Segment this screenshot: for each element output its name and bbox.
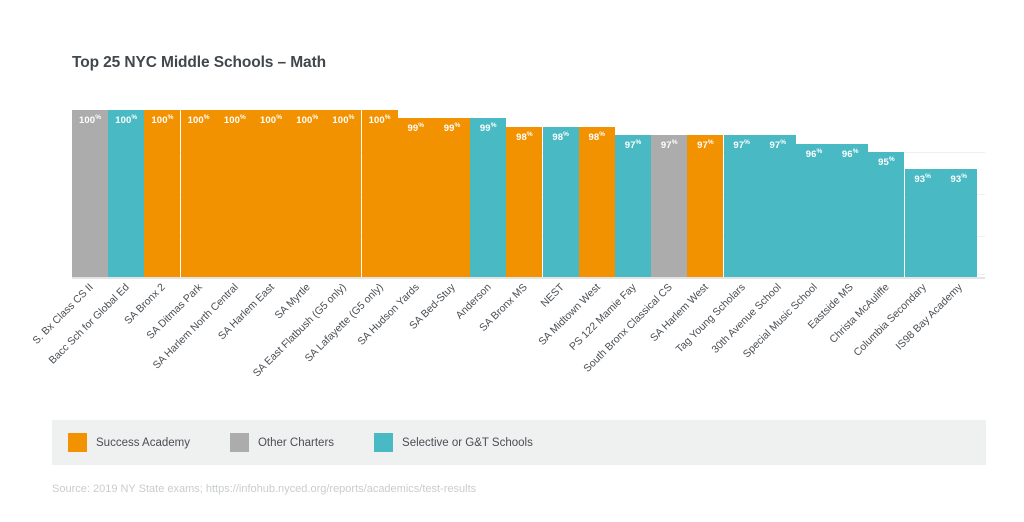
bar[interactable]: 97% bbox=[651, 135, 687, 278]
legend-swatch-success_academy bbox=[68, 433, 87, 452]
bar[interactable]: 100% bbox=[181, 110, 217, 278]
bar[interactable]: 100% bbox=[253, 110, 289, 278]
bar-value-label: 95% bbox=[868, 157, 904, 168]
bar-value-label: 98% bbox=[543, 132, 579, 143]
bar[interactable]: 98% bbox=[543, 127, 579, 278]
bar[interactable]: 98% bbox=[506, 127, 542, 278]
bar-value-label: 100% bbox=[72, 115, 108, 126]
bar[interactable]: 93% bbox=[905, 169, 941, 278]
bar-value-label: 100% bbox=[144, 115, 180, 126]
bar-value-label: 96% bbox=[832, 149, 868, 160]
bar-value-label: 100% bbox=[289, 115, 325, 126]
source-note: Source: 2019 NY State exams; https://inf… bbox=[52, 483, 476, 495]
bar-value-label: 97% bbox=[724, 140, 760, 151]
bar-value-label: 100% bbox=[217, 115, 253, 126]
x-axis-labels: S. Bx Class CS IIBacc Sch for Global EdS… bbox=[72, 282, 985, 392]
bar[interactable]: 96% bbox=[796, 144, 832, 278]
bar-value-label: 98% bbox=[579, 132, 615, 143]
bar-value-label: 100% bbox=[325, 115, 361, 126]
legend-swatch-selective_gt bbox=[374, 433, 393, 452]
bar-series: 100%100%100%100%100%100%100%100%100%99%9… bbox=[72, 110, 985, 278]
bar[interactable]: 97% bbox=[724, 135, 760, 278]
bar[interactable]: 97% bbox=[760, 135, 796, 278]
bar[interactable]: 100% bbox=[362, 110, 398, 278]
bar-value-label: 93% bbox=[905, 174, 941, 185]
bar-value-label: 96% bbox=[796, 149, 832, 160]
bar-value-label: 99% bbox=[470, 123, 506, 134]
bar-value-label: 97% bbox=[687, 140, 723, 151]
bar-value-label: 100% bbox=[362, 115, 398, 126]
bar-value-label: 97% bbox=[651, 140, 687, 151]
bar[interactable]: 100% bbox=[325, 110, 361, 278]
legend: Success AcademyOther ChartersSelective o… bbox=[52, 420, 986, 465]
bar[interactable]: 95% bbox=[868, 152, 904, 278]
bar-value-label: 98% bbox=[506, 132, 542, 143]
bar[interactable]: 97% bbox=[687, 135, 723, 278]
bar-value-label: 99% bbox=[398, 123, 434, 134]
bar[interactable]: 97% bbox=[615, 135, 651, 278]
bar[interactable]: 100% bbox=[144, 110, 180, 278]
bar[interactable]: 100% bbox=[72, 110, 108, 278]
bar[interactable]: 99% bbox=[434, 118, 470, 278]
legend-label: Selective or G&T Schools bbox=[402, 437, 533, 449]
legend-swatch-other_charters bbox=[230, 433, 249, 452]
legend-item[interactable]: Other Charters bbox=[230, 433, 334, 452]
bar-value-label: 97% bbox=[615, 140, 651, 151]
legend-label: Other Charters bbox=[258, 437, 334, 449]
bar-value-label: 99% bbox=[434, 123, 470, 134]
bar[interactable]: 99% bbox=[398, 118, 434, 278]
bar-value-label: 97% bbox=[760, 140, 796, 151]
axis-baseline bbox=[72, 277, 985, 279]
bar[interactable]: 96% bbox=[832, 144, 868, 278]
legend-item[interactable]: Success Academy bbox=[68, 433, 190, 452]
chart-page: Top 25 NYC Middle Schools – Math 100%100… bbox=[0, 0, 1024, 522]
bar-value-label: 93% bbox=[941, 174, 977, 185]
bar[interactable]: 100% bbox=[289, 110, 325, 278]
page-title: Top 25 NYC Middle Schools – Math bbox=[72, 54, 326, 72]
bar-value-label: 100% bbox=[108, 115, 144, 126]
bar-value-label: 100% bbox=[253, 115, 289, 126]
plot-area: 100%100%100%100%100%100%100%100%100%99%9… bbox=[72, 110, 985, 278]
bar[interactable]: 100% bbox=[217, 110, 253, 278]
bar[interactable]: 100% bbox=[108, 110, 144, 278]
bar[interactable]: 99% bbox=[470, 118, 506, 278]
legend-label: Success Academy bbox=[96, 437, 190, 449]
bar[interactable]: 98% bbox=[579, 127, 615, 278]
bar[interactable]: 93% bbox=[941, 169, 977, 278]
legend-item[interactable]: Selective or G&T Schools bbox=[374, 433, 533, 452]
bar-value-label: 100% bbox=[181, 115, 217, 126]
